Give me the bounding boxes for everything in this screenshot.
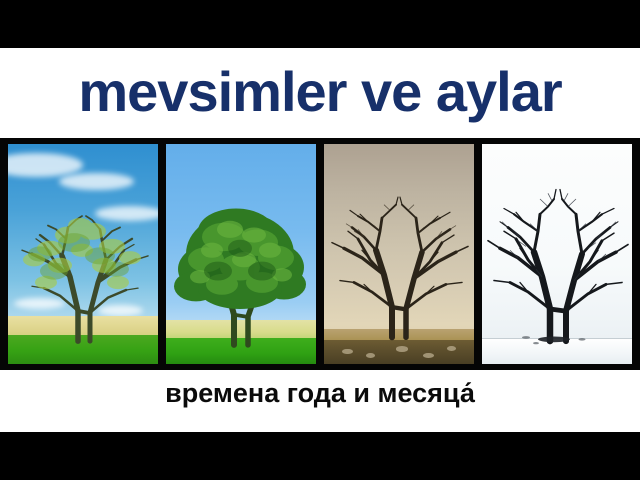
letterbox-bar-top (0, 0, 640, 48)
spring-tree-graphic (8, 144, 158, 364)
summer-panel (166, 144, 316, 364)
slide-content-area: mevsimler ve aylar (0, 48, 640, 432)
spring-panel (8, 144, 158, 364)
page-subtitle: времена года и месяца́ (0, 378, 640, 409)
letterbox-bar-bottom (0, 432, 640, 480)
seasons-photo-strip (0, 138, 640, 370)
winter-panel (482, 144, 632, 364)
page-title: mevsimler ve aylar (0, 64, 640, 120)
winter-tree-graphic (482, 144, 632, 364)
slide-canvas: mevsimler ve aylar (0, 0, 640, 480)
autumn-panel (324, 144, 474, 364)
autumn-tree-graphic (324, 144, 474, 364)
summer-tree-graphic (166, 144, 316, 364)
